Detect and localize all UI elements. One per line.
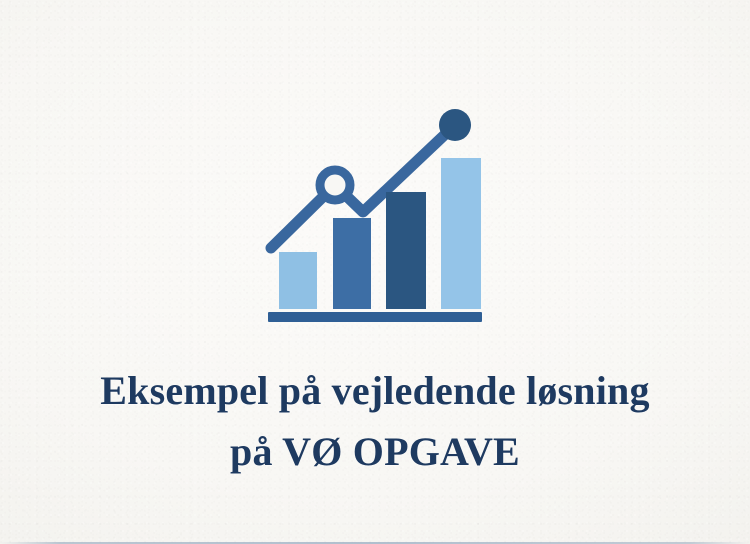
chart-baseline — [268, 312, 482, 322]
title-line-primary: Eksempel på vejledende løsning — [0, 366, 750, 416]
growth-bar-chart-icon — [255, 100, 495, 325]
bar-1 — [279, 252, 317, 309]
slide-canvas: Eksempel på vejledende løsning på VØ OPG… — [0, 0, 750, 544]
title-line-secondary: på VØ OPGAVE — [0, 427, 750, 477]
bar-3 — [386, 192, 426, 309]
bar-4 — [441, 158, 481, 309]
trend-marker-filled — [439, 109, 471, 141]
trend-marker-hollow — [320, 170, 350, 200]
title-block: Eksempel på vejledende løsning på VØ OPG… — [0, 366, 750, 477]
bar-2 — [333, 218, 371, 309]
